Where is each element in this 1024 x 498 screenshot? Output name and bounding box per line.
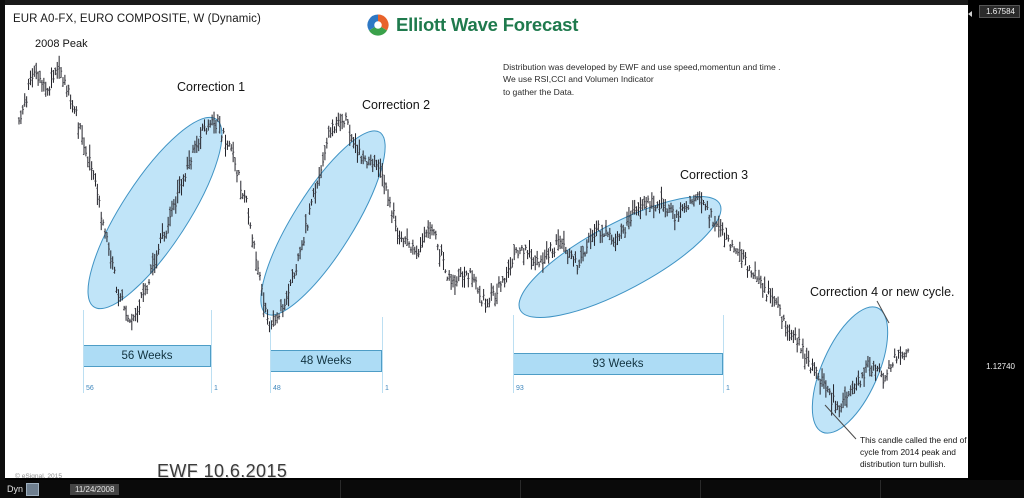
label-2008-peak: 2008 Peak bbox=[35, 38, 88, 50]
ewf-date-stamp: EWF 10.6.2015 bbox=[157, 461, 287, 478]
price-tag-low: 1.12740 bbox=[979, 360, 1020, 373]
price-tag-high: 1.67584 bbox=[979, 5, 1020, 18]
measure-tick-label: 1 bbox=[726, 385, 730, 392]
chart-canvas[interactable]: EUR A0-FX, EURO COMPOSITE, W (Dynamic) E… bbox=[5, 5, 968, 478]
correction-4-ellipse bbox=[797, 296, 903, 443]
label-correction-2: Correction 2 bbox=[362, 98, 430, 112]
measure-vertical-line bbox=[513, 315, 514, 393]
measure-vertical-line bbox=[270, 317, 271, 393]
correction-4-leader-line bbox=[877, 301, 889, 323]
statusbar-separator bbox=[700, 480, 701, 498]
measure-vertical-line bbox=[211, 310, 212, 393]
copyright-notice: © eSignal, 2015 bbox=[15, 473, 62, 478]
correction-2-ellipse bbox=[241, 116, 405, 329]
swirl-circle-logo-icon bbox=[367, 14, 389, 36]
method-note: Distribution was developed by EWF and us… bbox=[503, 61, 781, 98]
label-correction-1: Correction 1 bbox=[177, 80, 245, 94]
dyn-button[interactable]: Dyn bbox=[4, 482, 42, 497]
correction-1-ellipse bbox=[66, 101, 243, 325]
measure-tick-label: 48 bbox=[273, 385, 281, 392]
measure-vertical-line bbox=[382, 317, 383, 393]
statusbar-separator bbox=[340, 480, 341, 498]
measure-box[interactable]: 48 Weeks bbox=[270, 350, 382, 372]
brand-logo-group: Elliott Wave Forecast bbox=[367, 14, 578, 36]
chart-application-window: EUR A0-FX, EURO COMPOSITE, W (Dynamic) E… bbox=[0, 0, 1024, 498]
measure-vertical-line bbox=[83, 310, 84, 393]
dynamic-chart-icon[interactable] bbox=[26, 483, 39, 496]
status-bar: Dyn 11/24/2008 bbox=[0, 480, 1024, 498]
measure-box[interactable]: 56 Weeks bbox=[83, 345, 211, 367]
price-plot bbox=[5, 5, 968, 478]
price-axis-panel bbox=[968, 0, 1024, 498]
statusbar-separator bbox=[520, 480, 521, 498]
label-correction-4: Correction 4 or new cycle. bbox=[810, 285, 955, 299]
correction-3-ellipse bbox=[505, 175, 736, 339]
candle-note-leader-line bbox=[825, 405, 856, 439]
measure-tick-label: 56 bbox=[86, 385, 94, 392]
price-tag-arrow-high bbox=[968, 11, 972, 17]
measure-tick-label: 1 bbox=[385, 385, 389, 392]
date-chip[interactable]: 11/24/2008 bbox=[70, 484, 119, 495]
dyn-label: Dyn bbox=[7, 484, 23, 494]
measure-tick-label: 1 bbox=[214, 385, 218, 392]
statusbar-separator bbox=[880, 480, 881, 498]
measure-vertical-line bbox=[723, 315, 724, 393]
label-candle-note: This candle called the end of cycle from… bbox=[860, 435, 967, 471]
measure-tick-label: 93 bbox=[516, 385, 524, 392]
brand-name: Elliott Wave Forecast bbox=[396, 14, 578, 36]
measure-box[interactable]: 93 Weeks bbox=[513, 353, 723, 375]
label-correction-3: Correction 3 bbox=[680, 168, 748, 182]
symbol-header: EUR A0-FX, EURO COMPOSITE, W (Dynamic) bbox=[13, 13, 261, 25]
